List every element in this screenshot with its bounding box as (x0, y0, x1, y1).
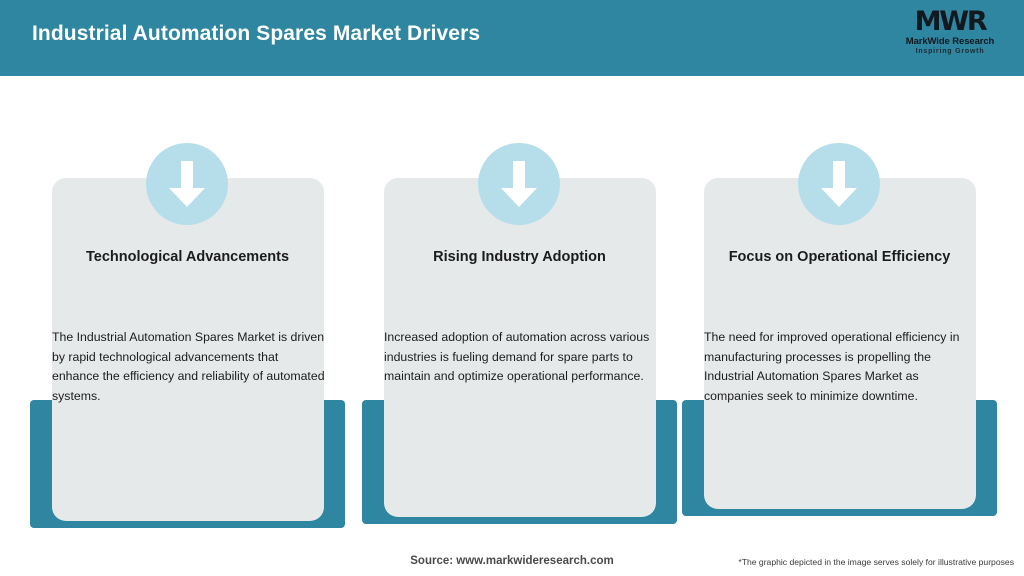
card-title: Rising Industry Adoption (380, 246, 659, 269)
driver-card: Focus on Operational Efficiency The need… (682, 178, 997, 538)
card-title: Technological Advancements (48, 246, 327, 269)
page-title: Industrial Automation Spares Market Driv… (32, 22, 480, 46)
disclaimer-note: *The graphic depicted in the image serve… (738, 557, 1014, 567)
down-arrow-icon (146, 143, 228, 225)
logo-monogram: MWR (894, 8, 1006, 36)
logo-company-name: MarkWide Research (894, 36, 1006, 47)
driver-card: Rising Industry Adoption Increased adopt… (362, 178, 677, 546)
down-arrow-icon (798, 143, 880, 225)
card-description: The Industrial Automation Spares Market … (52, 328, 325, 406)
brand-logo: MWR MarkWide Research Inspiring Growth (894, 8, 1006, 64)
page-header: Industrial Automation Spares Market Driv… (0, 0, 1024, 76)
driver-card: Technological Advancements The Industria… (30, 178, 345, 550)
card-description: The need for improved operational effici… (704, 328, 977, 406)
down-arrow-icon (478, 143, 560, 225)
card-title: Focus on Operational Efficiency (700, 246, 979, 269)
card-description: Increased adoption of automation across … (384, 328, 657, 387)
logo-tagline: Inspiring Growth (894, 47, 1006, 56)
